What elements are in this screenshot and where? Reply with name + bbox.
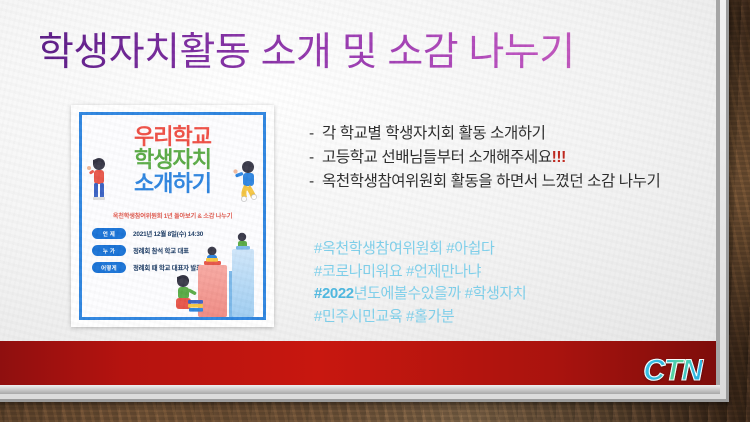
person-with-books-icon bbox=[170, 274, 204, 314]
hashtag-line: #민주시민교육 #홀가분 bbox=[314, 306, 704, 329]
poster-info-row: 어떻게 정례회 때 학교 대표자 발표 bbox=[92, 262, 203, 273]
bottom-red-band: CTN bbox=[0, 341, 716, 385]
poster-row-value: 정례회 때 학교 대표자 발표 bbox=[133, 263, 202, 272]
list-item: - 옥천학생참여위원회 활동을 하면서 느꼈던 소감 나누기 bbox=[309, 171, 699, 193]
bullet-marker: - bbox=[309, 147, 322, 169]
poster-title-line1: 우리학교 bbox=[82, 126, 263, 148]
hashtag-line: #코로나미워요 #언제만나냐 bbox=[314, 261, 704, 284]
person-jumping-icon bbox=[233, 160, 261, 202]
poster-content: 우리학교 학생자치 소개하기 옥천학생참여위원회 1년 돌아보기 & 소감 나누… bbox=[82, 115, 263, 317]
projection-screen-inner: 학생자치활동 소개 및 소감 나누기 우리학교 학생자치 소개하기 옥천학생참여… bbox=[0, 0, 720, 394]
hashtag-block: #옥천학생참여위원회 #아쉽다 #코로나미워요 #언제만나냐 #2022년도에볼… bbox=[314, 238, 704, 328]
hashtag-line: #2022년도에볼수있을까 #학생자치 bbox=[314, 283, 704, 306]
person-sitting-icon bbox=[232, 232, 254, 252]
bullet-text: 고등학교 선배님들부터 소개해주세요 bbox=[322, 149, 552, 166]
poster-row-label: 어떻게 bbox=[92, 262, 126, 273]
screen-bottom-edge bbox=[0, 385, 720, 394]
hashtag-line: #옥천학생참여위원회 #아쉽다 bbox=[314, 238, 704, 261]
poster-row-value: 정례회 참석 학교 대표 bbox=[133, 246, 189, 255]
list-item: - 각 학교별 학생자치회 활동 소개하기 bbox=[309, 123, 699, 145]
list-item: - 고등학교 선배님들부터 소개해주세요!!! bbox=[309, 147, 699, 169]
bullet-emphasis: !!! bbox=[552, 149, 566, 166]
presentation-slide: 학생자치활동 소개 및 소감 나누기 우리학교 학생자치 소개하기 옥천학생참여… bbox=[0, 0, 716, 341]
hashtag-line-rest: 년도에볼수있을까 #학생자치 bbox=[354, 285, 527, 302]
poster-subtitle: 옥천학생참여위원회 1년 돌아보기 & 소감 나누기 bbox=[82, 211, 263, 220]
projection-screen-frame: 학생자치활동 소개 및 소감 나누기 우리학교 학생자치 소개하기 옥천학생참여… bbox=[0, 0, 729, 402]
bullet-marker: - bbox=[309, 123, 322, 145]
event-poster-image: 우리학교 학생자치 소개하기 옥천학생참여위원회 1년 돌아보기 & 소감 나누… bbox=[71, 105, 274, 327]
bullet-text: 옥천학생참여위원회 활동을 하면서 느꼈던 소감 나누기 bbox=[322, 171, 699, 193]
poster-row-label: 언 제 bbox=[92, 228, 126, 239]
poster-block-blue bbox=[232, 249, 254, 317]
person-waving-icon bbox=[86, 157, 112, 201]
poster-info-rows: 언 제 2021년 12월 8일(수) 14:30 누 가 정례회 참석 학교 … bbox=[92, 228, 203, 279]
bullet-text: 각 학교별 학생자치회 활동 소개하기 bbox=[322, 123, 699, 145]
ctn-logo: CTN bbox=[643, 354, 702, 388]
hashtag-year: #2022 bbox=[314, 285, 354, 302]
bullet-list: - 각 학교별 학생자치회 활동 소개하기 - 고등학교 선배님들부터 소개해주… bbox=[309, 123, 699, 195]
page-title: 학생자치활동 소개 및 소감 나누기 bbox=[38, 29, 698, 77]
poster-row-label: 누 가 bbox=[92, 245, 126, 256]
bullet-marker: - bbox=[309, 171, 322, 193]
person-sitting-reading-icon bbox=[200, 246, 226, 268]
poster-info-row: 언 제 2021년 12월 8일(수) 14:30 bbox=[92, 228, 203, 239]
poster-row-value: 2021년 12월 8일(수) 14:30 bbox=[133, 229, 203, 238]
poster-info-row: 누 가 정례회 참석 학교 대표 bbox=[92, 245, 203, 256]
